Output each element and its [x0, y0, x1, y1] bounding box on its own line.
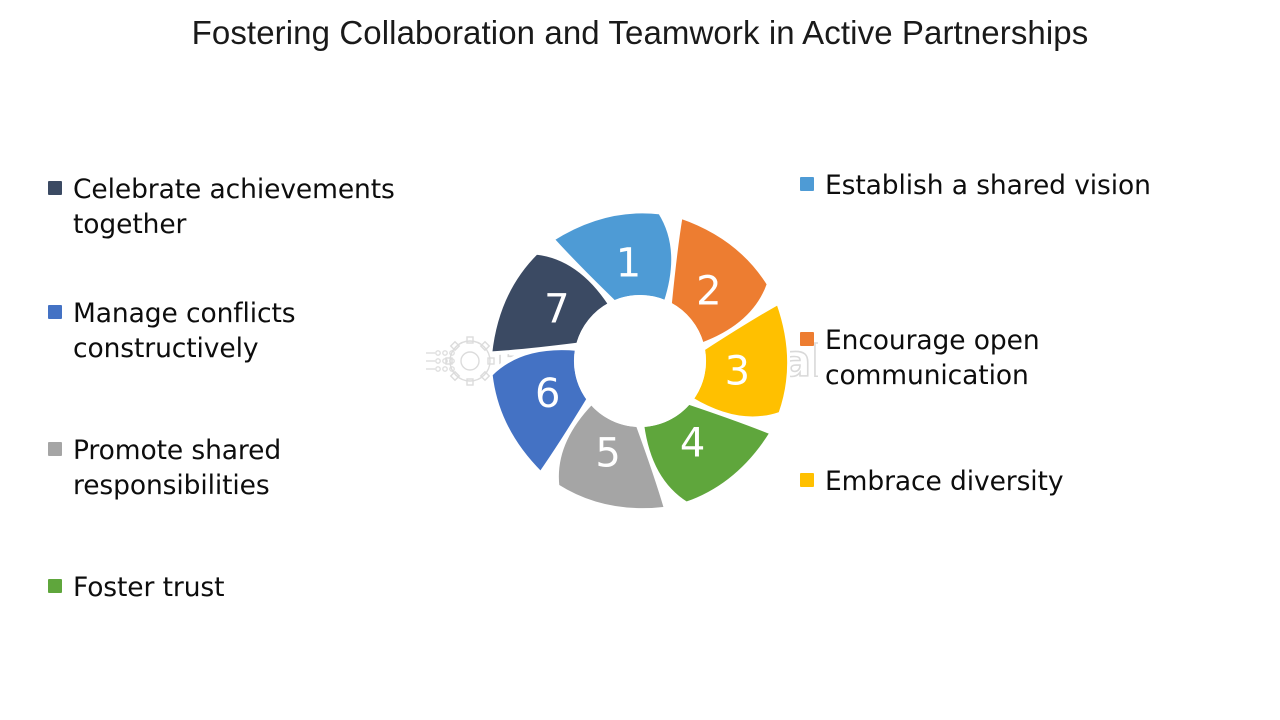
list-item[interactable]: Promote shared responsibilities [48, 433, 378, 503]
page-title: Fostering Collaboration and Teamwork in … [0, 14, 1280, 52]
list-item[interactable]: Manage conflicts constructively [48, 296, 378, 366]
list-item-label: Manage conflicts constructively [73, 296, 378, 366]
list-item-label: Celebrate achievements together [73, 172, 448, 242]
list-item-label: Establish a shared vision [825, 168, 1151, 203]
bullet-square-icon [48, 442, 62, 456]
segment-number-3: 3 [725, 349, 750, 395]
slide-canvas: Fostering Collaboration and Teamwork in … [0, 0, 1280, 720]
segment-number-4: 4 [680, 421, 705, 467]
list-item[interactable]: Encourage open communication [800, 323, 1100, 393]
cycle-diagram: FasterCapital 1234567 [418, 185, 818, 530]
list-item-label: Encourage open communication [825, 323, 1100, 393]
petal-chart: 1234567 [490, 193, 790, 523]
gear-icon [426, 337, 494, 385]
list-item[interactable]: Embrace diversity [800, 464, 1130, 499]
segment-number-6: 6 [535, 371, 560, 417]
bullet-square-icon [48, 181, 62, 195]
list-item-label: Embrace diversity [825, 464, 1063, 499]
bullet-square-icon [48, 579, 62, 593]
segment-number-7: 7 [544, 286, 569, 332]
segment-number-1: 1 [616, 241, 641, 287]
segment-number-5: 5 [595, 431, 620, 477]
list-item-label: Foster trust [73, 570, 224, 605]
bullet-square-icon [48, 305, 62, 319]
list-item-label: Promote shared responsibilities [73, 433, 378, 503]
list-item[interactable]: Celebrate achievements together [48, 172, 448, 242]
diagram-center-hub [574, 295, 706, 427]
segment-number-2: 2 [696, 268, 721, 314]
list-item[interactable]: Foster trust [48, 570, 378, 605]
list-item[interactable]: Establish a shared vision [800, 168, 1220, 203]
